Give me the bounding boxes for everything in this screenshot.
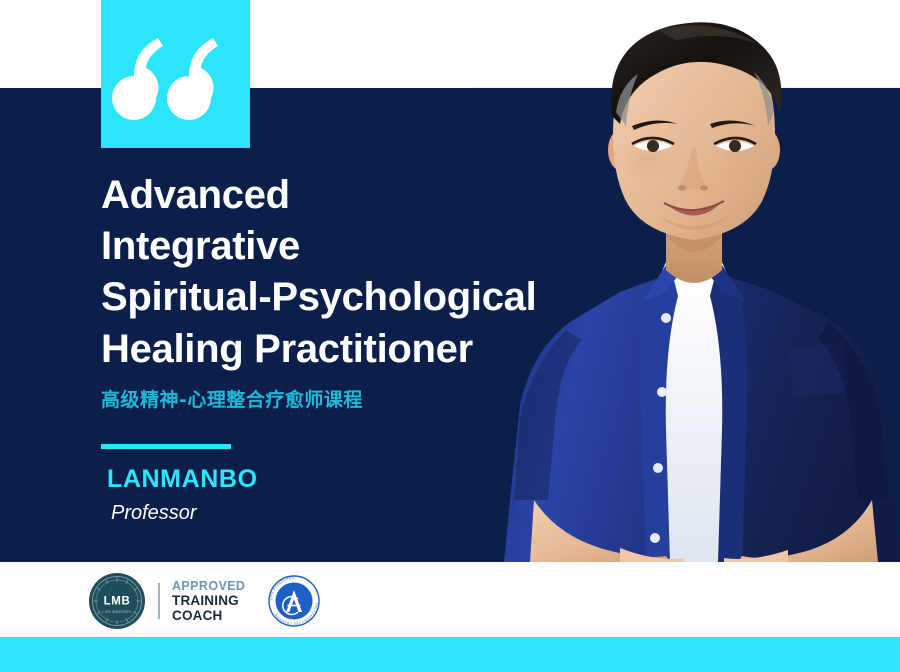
- lmb-approved-training-coach-badge: LMB LIFE MASTERY APPROVED TRAINING COACH: [88, 572, 245, 630]
- text-content-column: Advanced Integrative Spiritual-Psycholog…: [101, 170, 571, 525]
- shirt-button: [661, 313, 671, 323]
- quote-accent-block: [101, 0, 250, 148]
- page-title: Advanced Integrative Spiritual-Psycholog…: [101, 170, 571, 375]
- badge-line-coach: COACH: [172, 608, 245, 623]
- academy-for-coaching-seal-icon: CPD STANDARDS THE ACADEMY FOR COACHING: [267, 574, 321, 628]
- quotation-mark-icon: [101, 0, 250, 148]
- accent-divider: [101, 444, 231, 449]
- course-promo-banner: Advanced Integrative Spiritual-Psycholog…: [0, 0, 900, 672]
- badge-line-training: TRAINING: [172, 593, 245, 608]
- accreditation-badges: LMB LIFE MASTERY APPROVED TRAINING COACH…: [88, 572, 321, 630]
- instructor-role: Professor: [111, 502, 571, 525]
- pupil-right: [729, 140, 741, 152]
- pupil-left: [647, 140, 659, 152]
- bottom-accent-bar: [0, 637, 900, 672]
- instructor-name: LANMANBO: [107, 465, 571, 494]
- badge-line-approved: APPROVED: [172, 579, 245, 593]
- shirt-button: [657, 387, 667, 397]
- lmb-seal-icon: LMB LIFE MASTERY: [88, 572, 146, 630]
- nostril-left: [678, 185, 686, 190]
- nostril-right: [700, 185, 708, 190]
- badge-divider: [158, 583, 160, 619]
- svg-text:LIFE MASTERY: LIFE MASTERY: [102, 610, 132, 614]
- shirt-button: [650, 533, 660, 543]
- svg-text:LMB: LMB: [104, 596, 131, 608]
- subtitle-chinese: 高级精神-心理整合疗愈师课程: [101, 385, 571, 412]
- badge-text-group: APPROVED TRAINING COACH: [172, 579, 245, 623]
- shirt-button: [653, 463, 663, 473]
